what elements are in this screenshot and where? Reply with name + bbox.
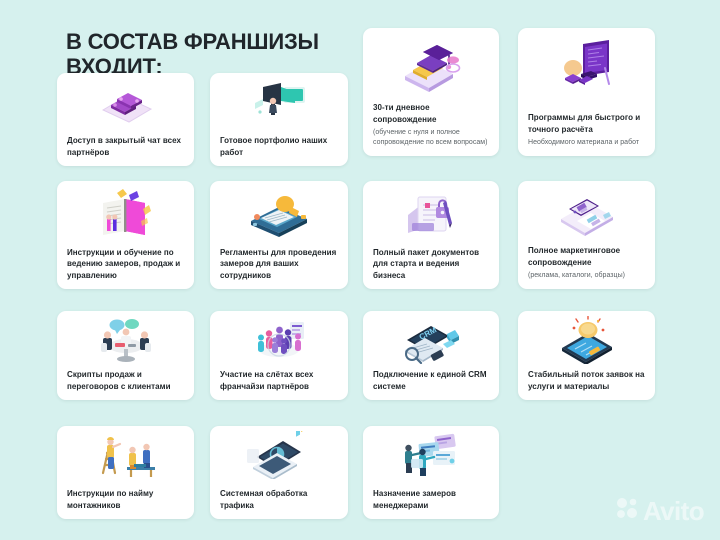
measuring-machine-icon <box>210 187 348 239</box>
card-text: Инструкции и обучение по ведению замеров… <box>67 247 186 281</box>
feature-card[interactable]: Скрипты продаж и переговоров с клиентами <box>57 311 194 400</box>
card-title: Назначение замеров менеджерами <box>373 488 491 511</box>
feature-card[interactable]: Инструкции по найму монтажников <box>57 426 194 519</box>
feature-card[interactable]: Полный пакет документов для старта и вед… <box>363 181 499 289</box>
avito-dots-icon <box>615 497 639 524</box>
people-gathering-icon <box>210 317 348 363</box>
card-title: Инструкции и обучение по ведению замеров… <box>67 247 186 281</box>
card-title: Полное маркетинговое сопровождение <box>528 245 647 268</box>
card-title: Подключение к единой CRM системе <box>373 369 491 392</box>
card-title: Полный пакет документов для старта и вед… <box>373 247 491 281</box>
feature-card[interactable]: Доступ в закрытый чат всех партнёров <box>57 73 194 166</box>
card-title: Готовое портфолио наших работ <box>220 135 340 158</box>
card-title: Программы для быстрого и точного расчёта <box>528 112 647 135</box>
feature-card[interactable]: CRM Подключени <box>363 311 499 400</box>
card-title: Инструкции по найму монтажников <box>67 488 186 511</box>
feature-card[interactable]: Инструкции и обучение по ведению замеров… <box>57 181 194 289</box>
feature-card[interactable]: Регламенты для проведения замеров для ва… <box>210 181 348 289</box>
card-text: Участие на слётах всех франчайзи партнёр… <box>220 369 340 392</box>
card-subtitle: (реклама, каталоги, образцы) <box>528 271 647 281</box>
feature-card[interactable]: Системная обработка трафика <box>210 426 348 519</box>
avito-watermark: Avito <box>615 497 704 524</box>
card-text: Готовое портфолио наших работ <box>220 135 340 158</box>
card-text: Назначение замеров менеджерами <box>373 488 491 511</box>
servers-chat-icon <box>57 79 194 125</box>
card-title: Системная обработка трафика <box>220 488 340 511</box>
managers-screens-icon <box>363 432 499 478</box>
crm-laptop-icon: CRM <box>363 317 499 363</box>
open-book-learning-icon <box>57 187 194 239</box>
card-title: Скрипты продаж и переговоров с клиентами <box>67 369 186 392</box>
card-subtitle: (обучение с нуля и полное сопровождение … <box>373 128 491 148</box>
feature-card[interactable]: Готовое портфолио наших работ <box>210 73 348 166</box>
feature-card[interactable]: Участие на слётах всех франчайзи партнёр… <box>210 311 348 400</box>
card-text: Полный пакет документов для старта и вед… <box>373 247 491 281</box>
card-text: Системная обработка трафика <box>220 488 340 511</box>
card-title: Стабильный поток заявок на услуги и мате… <box>528 369 647 392</box>
card-text: Скрипты продаж и переговоров с клиентами <box>67 369 186 392</box>
graduation-cap-book-icon <box>363 36 499 92</box>
portfolio-presentation-icon <box>210 79 348 125</box>
avito-watermark-label: Avito <box>643 498 704 524</box>
laptop-analytics-icon <box>210 432 348 478</box>
feature-card[interactable]: Программы для быстрого и точного расчёта… <box>518 28 655 156</box>
card-text: Программы для быстрого и точного расчёта… <box>528 112 647 148</box>
card-title: 30-ти дневное сопровождение <box>373 102 491 125</box>
card-title: Регламенты для проведения замеров для ва… <box>220 247 340 281</box>
card-text: Полное маркетинговое сопровождение (рекл… <box>528 245 647 281</box>
card-text: Доступ в закрытый чат всех партнёров <box>67 135 186 158</box>
card-text: Регламенты для проведения замеров для ва… <box>220 247 340 281</box>
phone-catalog-icon <box>518 187 655 239</box>
card-text: Инструкции по найму монтажников <box>67 488 186 511</box>
card-text: 30-ти дневное сопровождение (обучение с … <box>373 102 491 148</box>
card-subtitle: Необходимого материала и работ <box>528 138 647 148</box>
feature-card[interactable]: Полное маркетинговое сопровождение (рекл… <box>518 181 655 289</box>
card-text: Подключение к единой CRM системе <box>373 369 491 392</box>
workers-installers-icon <box>57 432 194 478</box>
card-text: Стабильный поток заявок на услуги и мате… <box>528 369 647 392</box>
desktop-computer-icon <box>518 36 655 92</box>
feature-card[interactable]: Стабильный поток заявок на услуги и мате… <box>518 311 655 400</box>
card-title: Участие на слётах всех франчайзи партнёр… <box>220 369 340 392</box>
card-title: Доступ в закрытый чат всех партнёров <box>67 135 186 158</box>
feature-card[interactable]: Назначение замеров менеджерами <box>363 426 499 519</box>
documents-lock-icon <box>363 187 499 239</box>
negotiation-table-icon <box>57 317 194 363</box>
page-root: В СОСТАВ ФРАНШИЗЫ ВХОДИТ: <box>0 0 720 540</box>
feature-card[interactable]: 30-ти дневное сопровождение (обучение с … <box>363 28 499 156</box>
tablet-leads-icon <box>518 317 655 363</box>
